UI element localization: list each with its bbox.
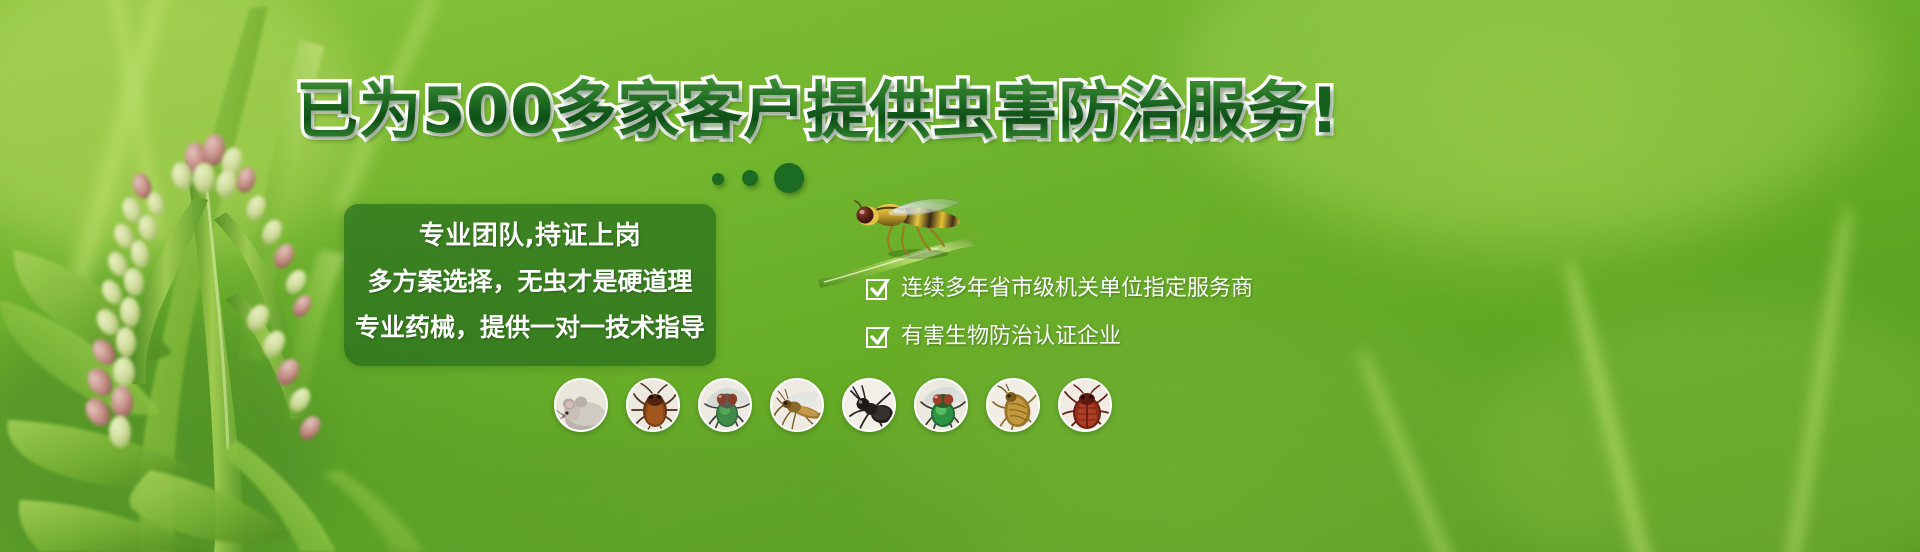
decorative-dot-medium [742,170,758,186]
decorative-dots [712,163,822,195]
panel-line-2: 多方案选择，无虫才是硬道理 [344,266,716,298]
feature-text-panel: 专业团队,持证上岗 多方案选择，无虫才是硬道理 专业药械，提供一对一技术指导 [344,204,716,366]
decorative-dot-large [774,163,804,193]
background-grass-blade [1780,203,1857,552]
checkbox-checked-icon [866,277,890,301]
credential-item: 有害生物防治认证企业 [866,320,1121,354]
pest-icon-mosquito[interactable] [770,378,824,432]
credential-text: 有害生物防治认证企业 [901,324,1121,350]
panel-line-3: 专业药械，提供一对一技术指导 [344,312,716,344]
pest-icon-flea[interactable] [986,378,1040,432]
background-grass-blade [1558,257,1662,552]
pest-icon-greenbottle-fly[interactable] [914,378,968,432]
credentials-list: 连续多年省市级机关单位指定服务商 有害生物防治认证企业 [866,272,1296,364]
background-blur-blob [1480,300,1920,552]
credential-item: 连续多年省市级机关单位指定服务商 [866,272,1253,306]
background-blur-blob [380,430,1000,552]
credential-text: 连续多年省市级机关单位指定服务商 [901,276,1253,302]
decorative-dot-small [712,173,724,185]
pest-icon-housefly[interactable] [698,378,752,432]
pest-icon-mouse[interactable] [554,378,608,432]
pest-icon-strip [554,378,1112,432]
background-grass-blade [1353,346,1465,552]
panel-line-1: 专业团队,持证上岗 [344,220,716,252]
pest-icon-ant[interactable] [842,378,896,432]
pest-icon-bedbug[interactable] [1058,378,1112,432]
page-headline: 已为500多家客户提供虫害防治服务! [296,78,1296,144]
promo-banner: 已为500多家客户提供虫害防治服务! 已为500多家客户提供虫害防治服务! [0,0,1920,552]
checkbox-checked-icon [866,325,890,349]
pest-icon-cockroach[interactable] [626,378,680,432]
